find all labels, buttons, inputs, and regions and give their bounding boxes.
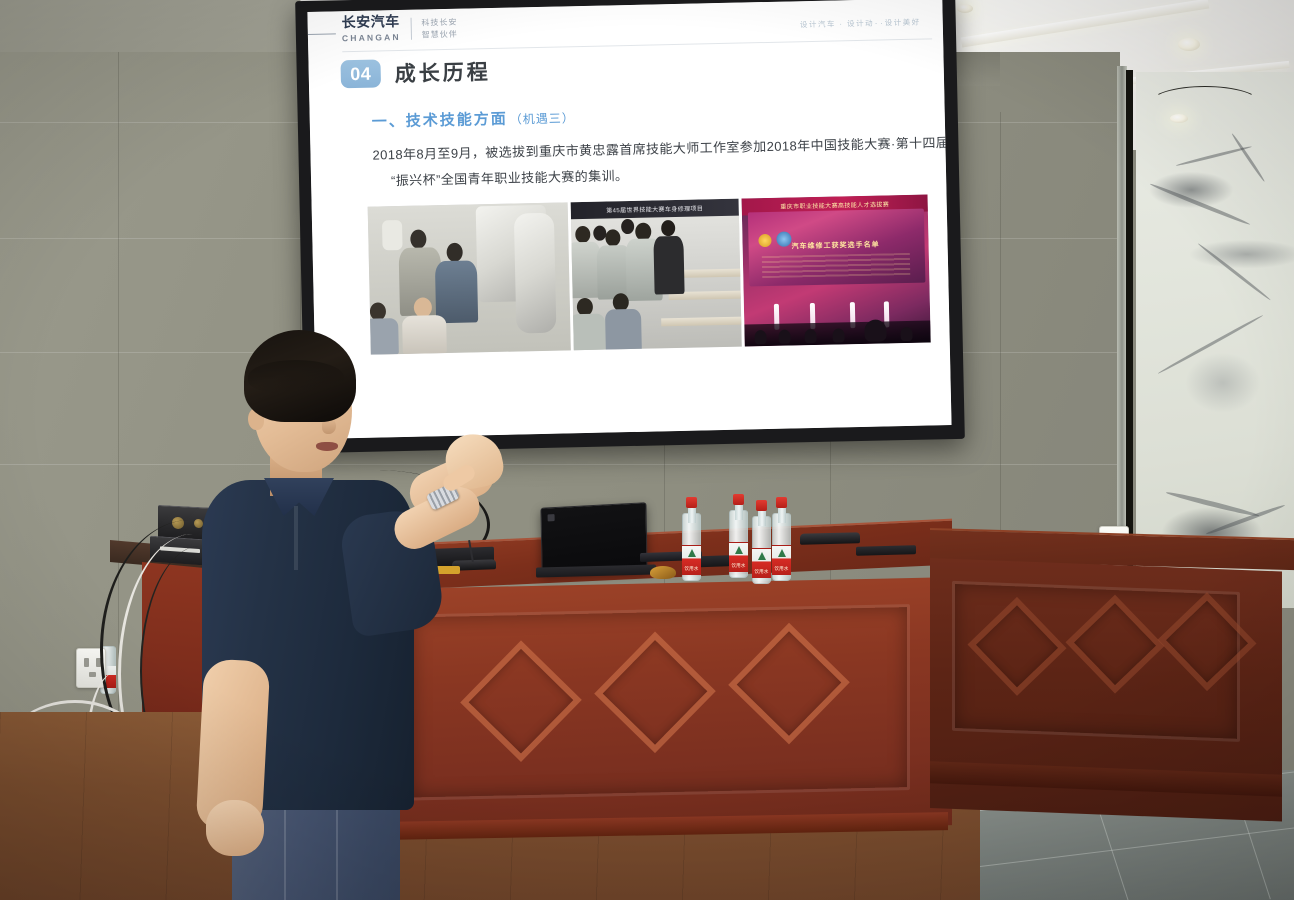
slide-photo-group: 第45届世界技能大赛车身修理项目 — [571, 199, 742, 351]
water-bottle[interactable]: 饮用水 — [772, 497, 791, 581]
section-title: 成长历程 — [394, 56, 491, 88]
slide-subheading: 一、技术技能方面 （机遇三） — [372, 106, 575, 131]
brand-slogan-line2: 智慧伙伴 — [422, 28, 458, 41]
presenter — [196, 330, 516, 900]
subheading-main: 一、技术技能方面 — [372, 108, 508, 132]
water-bottle[interactable]: 饮用水 — [752, 500, 771, 584]
presenter-hair-fringe — [248, 360, 344, 394]
brand-logo: 长安汽车 CHANGAN 科技长安 智慧伙伴 — [342, 15, 458, 43]
wall-outlet-left[interactable] — [76, 648, 106, 688]
desk-gear-right[interactable] — [856, 545, 916, 556]
desk-microphone-2[interactable] — [800, 532, 860, 545]
logo-divider — [410, 17, 411, 39]
brand-slogan-line1: 科技长安 — [421, 16, 457, 29]
brand-name-cn: 长安汽车 — [342, 16, 401, 32]
downlight-icon — [1178, 38, 1200, 51]
slide-body-line-2: “振兴杯”全国青年职业技能大赛的集训。 — [391, 165, 629, 189]
water-bottle[interactable]: 饮用水 — [682, 497, 701, 581]
bottle-label-text: 饮用水 — [772, 566, 791, 572]
slide-section-header: 04 成长历程 — [340, 56, 491, 89]
slide-top-right-note: 设计汽车 · 设计动٠ · 设计美好 — [800, 17, 921, 31]
presenter-placket — [294, 506, 298, 570]
laptop-lid[interactable] — [540, 502, 647, 574]
slide-photo-ceremony: 重庆市职业技能大赛高技能人才选拔赛 汽车维修工获奖选手名单 — [742, 195, 931, 347]
slide-body-line-1: 2018年8月至9月，被选拔到重庆市黄忠露首席技能大师工作室参加2018年中国技… — [372, 132, 949, 164]
slide-corner-rule — [308, 33, 336, 35]
section-number-badge: 04 — [340, 59, 381, 88]
brand-slogan: 科技长安 智慧伙伴 — [421, 16, 458, 41]
mouse[interactable] — [650, 566, 676, 579]
bottle-label-text: 饮用水 — [729, 563, 748, 569]
water-bottle[interactable]: 饮用水 — [729, 494, 748, 578]
subheading-suffix: （机遇三） — [510, 109, 575, 127]
presenter-mouth — [316, 442, 338, 451]
laptop-logo-icon — [548, 514, 555, 521]
bottle-label-text: 饮用水 — [682, 566, 701, 572]
ceiling-cable — [1150, 86, 1260, 120]
presenter-left-hand — [206, 800, 264, 856]
scene-root: 长安汽车 CHANGAN 科技长安 智慧伙伴 设计汽车 · 设计动٠ · 设计美… — [0, 0, 1294, 900]
podium-desk-right — [930, 528, 1294, 828]
brand-name-en: CHANGAN — [342, 32, 401, 43]
downlight-icon — [957, 4, 973, 13]
bottle-label-text: 饮用水 — [752, 569, 771, 575]
